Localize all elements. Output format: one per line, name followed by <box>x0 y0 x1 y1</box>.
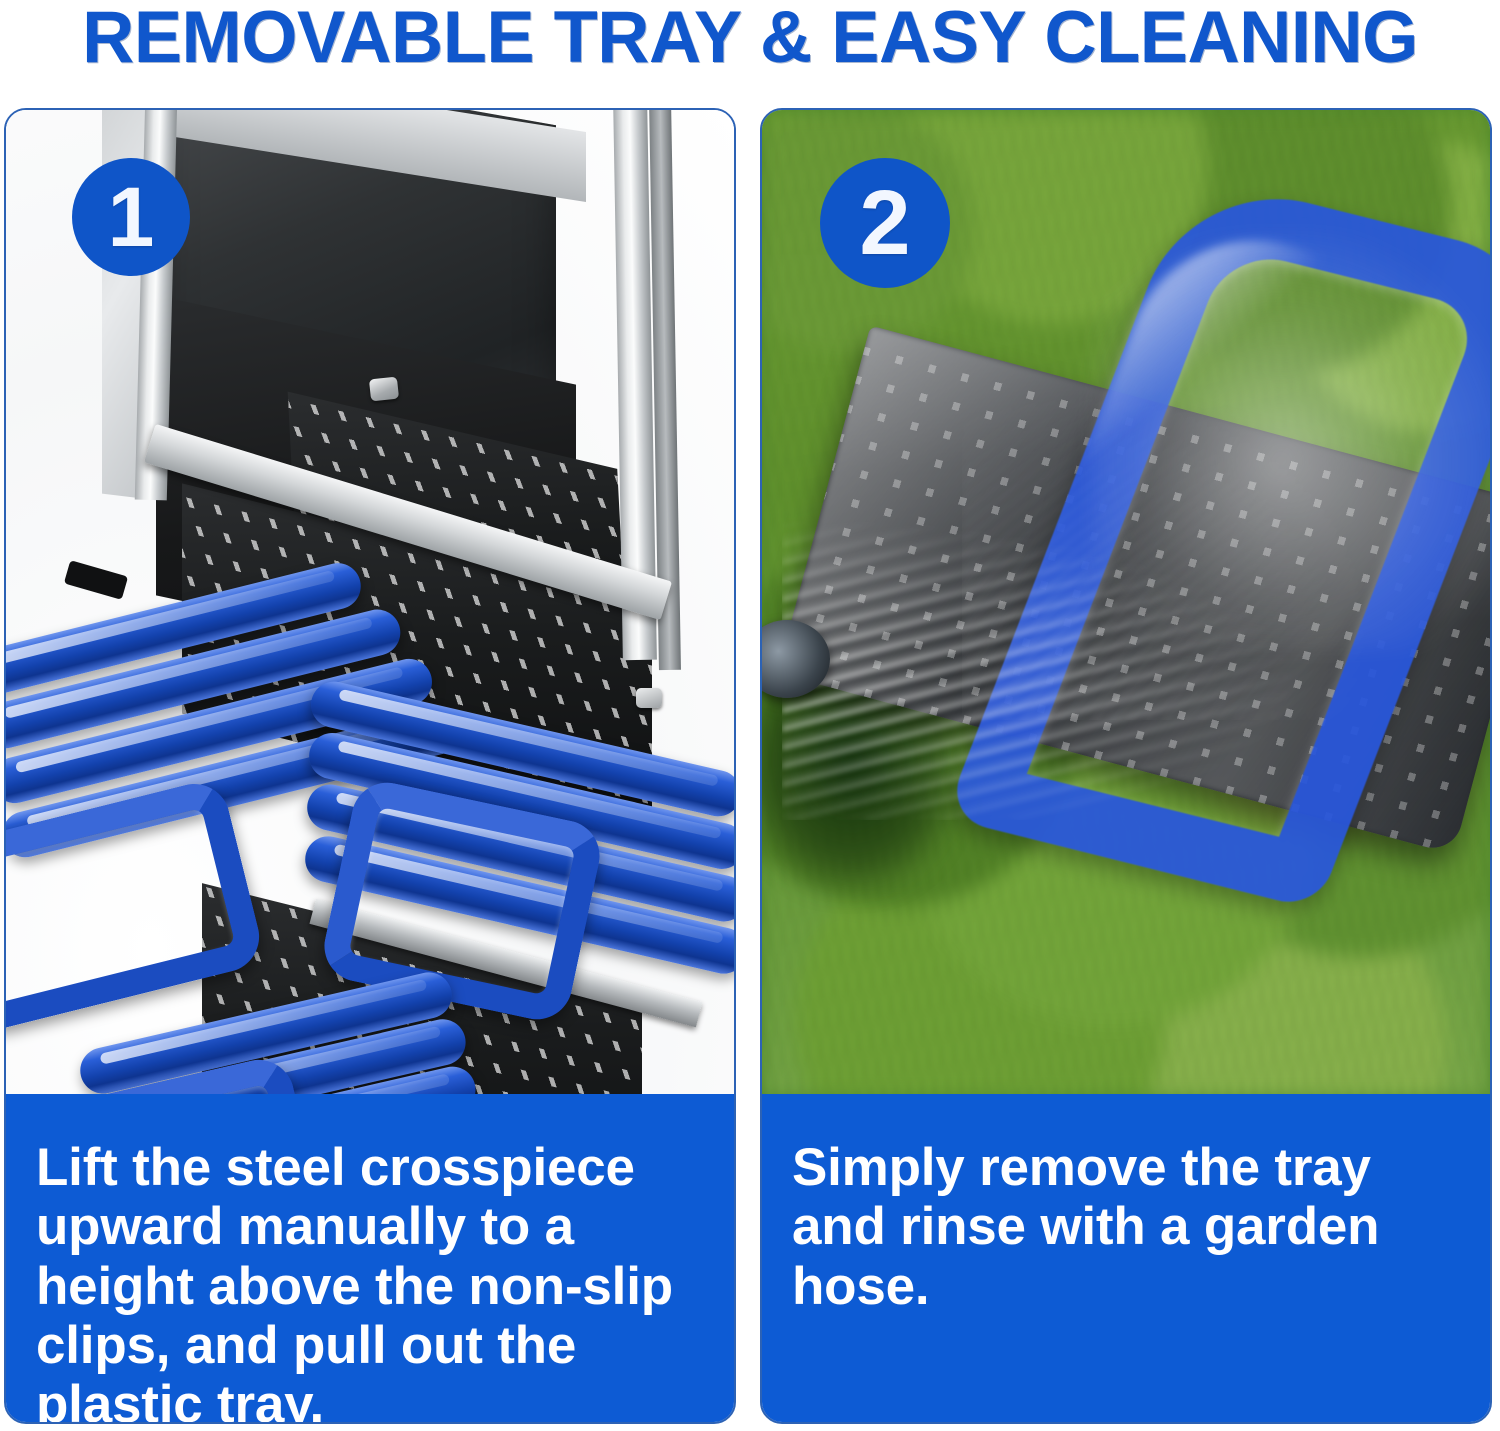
step-panel-1: 1 Lift the steel crosspiece upward manua… <box>4 108 736 1424</box>
infographic-root: REMOVABLE TRAY & EASY CLEANING <box>0 0 1500 1431</box>
bolt-icon <box>636 688 662 708</box>
step-2-photo: 2 <box>762 110 1490 1098</box>
bolt-icon <box>369 377 399 402</box>
step-1-caption: Lift the steel crosspiece upward manuall… <box>6 1094 734 1422</box>
step-panel-2: 2 Simply remove the tray and rinse with … <box>760 108 1492 1424</box>
page-title: REMOVABLE TRAY & EASY CLEANING <box>8 0 1493 80</box>
step-2-caption: Simply remove the tray and rinse with a … <box>762 1094 1490 1422</box>
step-number-badge-2: 2 <box>820 158 950 288</box>
step-number-badge-1: 1 <box>72 158 190 276</box>
water-spray-fan <box>962 260 1490 720</box>
step-1-photo: 1 <box>6 110 734 1098</box>
